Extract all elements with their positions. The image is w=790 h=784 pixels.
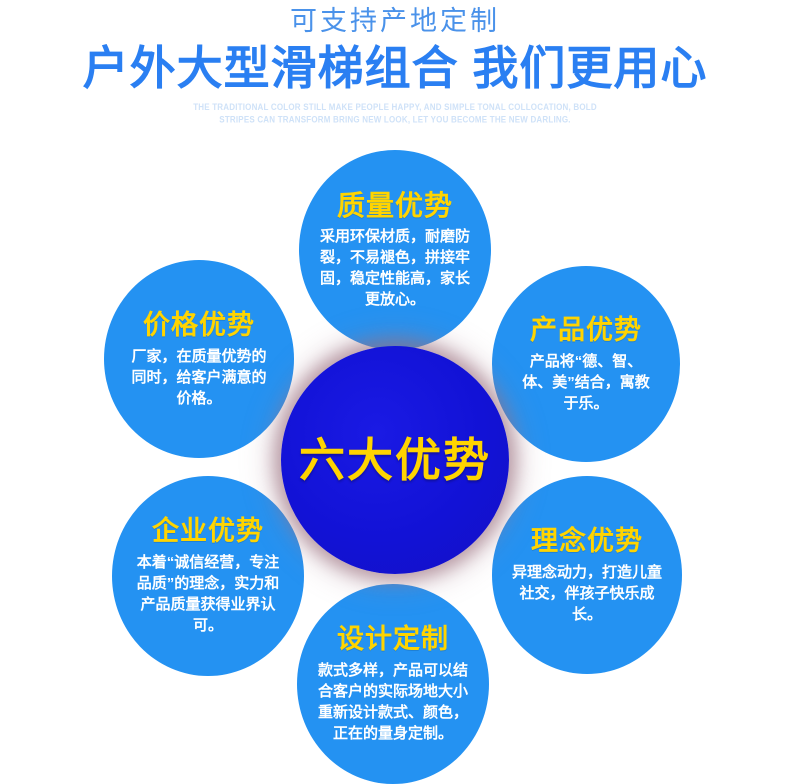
header-eyebrow: 可支持产地定制 [0,0,790,38]
advantage-title-design: 设计定制 [337,624,449,655]
advantage-circle-price[interactable]: 价格优势 厂家，在质量优势的同时，给客户满意的价格。 [104,260,294,458]
advantage-body-concept: 异理念动力，打造儿童社交，伴孩子快乐成长。 [508,562,666,625]
advantage-circle-concept[interactable]: 理念优势 异理念动力，打造儿童社交，伴孩子快乐成长。 [492,476,682,674]
six-advantages-diagram: 质量优势 采用环保材质，耐磨防裂，不易褪色，拼接牢固，稳定性能高，家长更放心。 … [0,138,790,778]
advantage-body-design: 款式多样，产品可以结合客户的实际场地大小重新设计款式、颜色，正在的量身定制。 [313,660,473,744]
advantage-body-company: 本着“诚信经营，专注品质”的理念，实力和产品质量获得业界认可。 [128,552,288,636]
center-hub-label: 六大优势 [299,435,491,485]
advantage-body-quality: 采用环保材质，耐磨防裂，不易褪色，拼接牢固，稳定性能高，家长更放心。 [315,226,475,310]
page-title: 户外大型滑梯组合 我们更用心 [0,38,790,96]
advantage-body-product: 产品将“德、智、体、美”结合，寓教于乐。 [508,351,664,414]
advantage-title-product: 产品优势 [530,315,642,346]
advantage-circle-company[interactable]: 企业优势 本着“诚信经营，专注品质”的理念，实力和产品质量获得业界认可。 [112,476,304,676]
header-subtitle-line-1: THE TRADITIONAL COLOR STILL MAKE PEOPLE … [0,101,790,114]
center-hub-circle: 六大优势 [281,346,509,574]
header-subtitle-line-2: STRIPES CAN TRANSFORM BRING NEW LOOK, LE… [0,113,790,126]
promo-header: 可支持产地定制 户外大型滑梯组合 我们更用心 THE TRADITIONAL C… [0,0,790,138]
advantage-circle-product[interactable]: 产品优势 产品将“德、智、体、美”结合，寓教于乐。 [492,266,680,462]
advantage-title-price: 价格优势 [143,310,255,341]
header-subtitle: THE TRADITIONAL COLOR STILL MAKE PEOPLE … [0,94,790,126]
advantage-title-company: 企业优势 [152,516,264,547]
advantage-circle-quality[interactable]: 质量优势 采用环保材质，耐磨防裂，不易褪色，拼接牢固，稳定性能高，家长更放心。 [299,150,491,350]
advantage-title-concept: 理念优势 [531,526,643,557]
advantage-title-quality: 质量优势 [337,190,453,221]
advantage-body-price: 厂家，在质量优势的同时，给客户满意的价格。 [120,346,278,409]
advantage-circle-design[interactable]: 设计定制 款式多样，产品可以结合客户的实际场地大小重新设计款式、颜色，正在的量身… [297,584,489,784]
